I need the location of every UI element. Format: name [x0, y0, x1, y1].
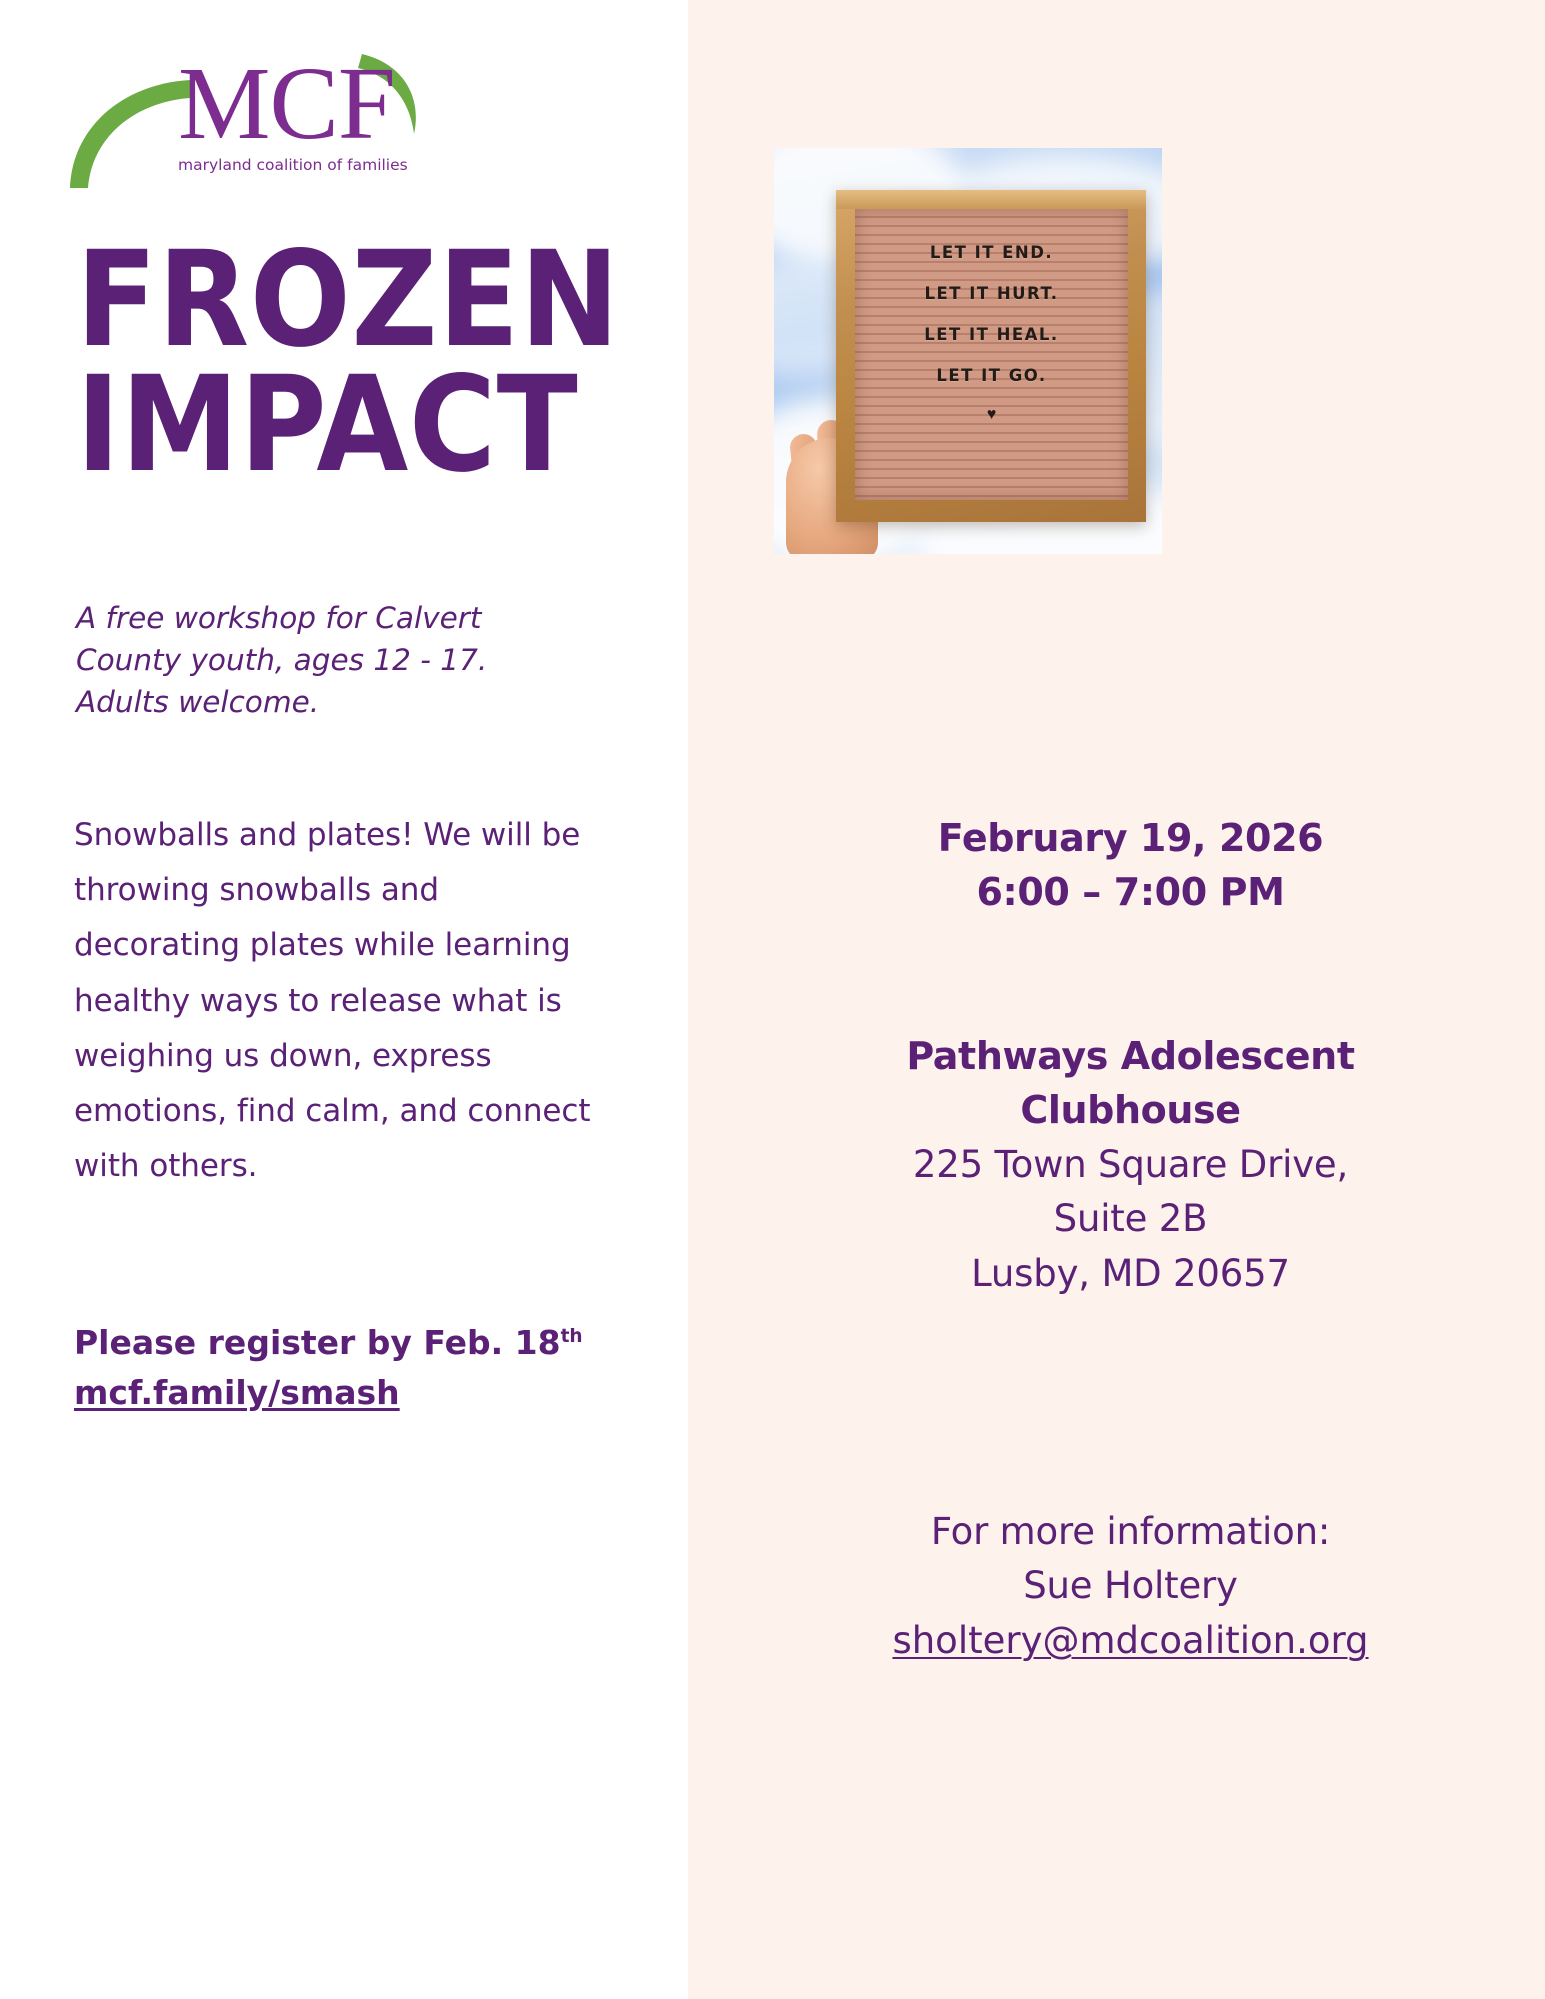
registration-link[interactable]: mcf.family/smash [74, 1370, 400, 1416]
venue-address-line-2: Suite 2B [726, 1192, 1535, 1246]
letterboard-line: LET IT GO. [855, 366, 1128, 385]
heart-icon: ♥ [855, 407, 1128, 423]
event-date: February 19, 2026 [726, 812, 1535, 866]
green-swoosh-left [70, 80, 190, 188]
flyer-page: MCF maryland coalition of families FROZE… [0, 0, 1545, 1999]
contact-name: Sue Holtery [726, 1559, 1535, 1613]
mcf-logo: MCF maryland coalition of families [62, 36, 432, 194]
letterboard-line: LET IT HURT. [855, 284, 1128, 303]
event-time: 6:00 – 7:00 PM [726, 866, 1535, 920]
letterboard-surface: LET IT END. LET IT HURT. LET IT HEAL. LE… [855, 209, 1128, 500]
mcf-wordmark: MCF [178, 46, 395, 161]
right-column: LET IT END. LET IT HURT. LET IT HEAL. LE… [688, 0, 1545, 1999]
workshop-description: Snowballs and plates! We will be throwin… [74, 808, 614, 1194]
workshop-subtitle: A free workshop for Calvert County youth… [76, 598, 546, 724]
letterboard-frame: LET IT END. LET IT HURT. LET IT HEAL. LE… [836, 190, 1146, 522]
letterboard-line: LET IT END. [855, 243, 1128, 262]
page-title: FROZEN IMPACT [76, 238, 676, 489]
registration-deadline-ordinal: th [561, 1326, 583, 1347]
event-venue: Pathways Adolescent Clubhouse 225 Town S… [688, 1030, 1545, 1301]
venue-name-line-1: Pathways Adolescent [726, 1030, 1535, 1084]
contact-info: For more information: Sue Holtery sholte… [688, 1505, 1545, 1668]
letterboard-line: LET IT HEAL. [855, 325, 1128, 344]
mcf-logo-graphic: MCF maryland coalition of families [62, 36, 432, 194]
venue-address-line-1: 225 Town Square Drive, [726, 1138, 1535, 1192]
registration-deadline-text: Please register by Feb. 18 [74, 1323, 561, 1362]
letterboard-photo: LET IT END. LET IT HURT. LET IT HEAL. LE… [774, 148, 1162, 554]
contact-email-link[interactable]: sholtery@mdcoalition.org [892, 1614, 1368, 1668]
registration-block: Please register by Feb. 18th mcf.family/… [74, 1320, 688, 1415]
page-title-line-2: IMPACT [76, 363, 616, 488]
event-datetime: February 19, 2026 6:00 – 7:00 PM [688, 812, 1545, 920]
mcf-tagline: maryland coalition of families [178, 156, 408, 174]
registration-deadline: Please register by Feb. 18th [74, 1320, 688, 1366]
left-column: MCF maryland coalition of families FROZE… [0, 0, 688, 1999]
contact-heading: For more information: [726, 1505, 1535, 1559]
venue-name-line-2: Clubhouse [726, 1084, 1535, 1138]
venue-address-line-3: Lusby, MD 20657 [726, 1247, 1535, 1301]
page-title-line-1: FROZEN [76, 238, 616, 363]
